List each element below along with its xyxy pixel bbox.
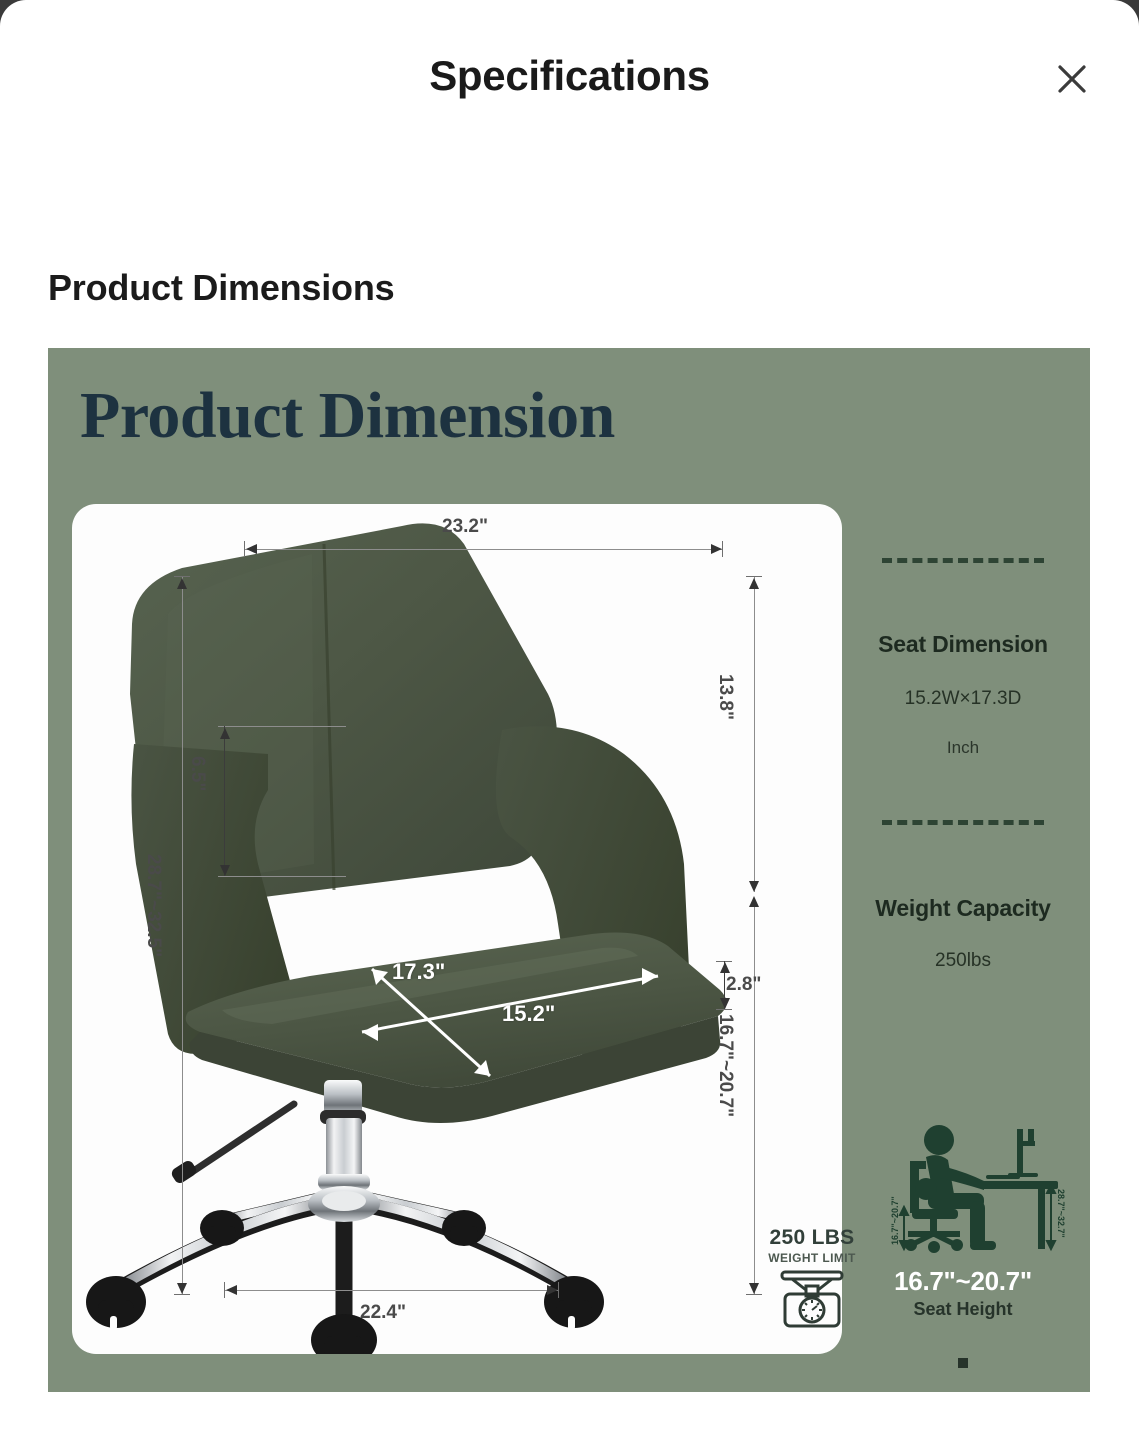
arrow-left-icon bbox=[226, 1285, 237, 1295]
arrow-right-icon bbox=[547, 1285, 558, 1295]
section-heading: Product Dimensions bbox=[48, 267, 394, 309]
dimension-label-top-width: 23.2" bbox=[442, 516, 488, 538]
dashed-divider-top bbox=[882, 558, 1044, 563]
seat-height-vertical-label-left: 16.7"~20.7" bbox=[890, 1196, 900, 1245]
dimension-tick bbox=[746, 576, 762, 577]
arrow-up-icon bbox=[749, 578, 759, 589]
dashed-divider-middle bbox=[882, 820, 1044, 825]
dimension-diagram-card: 23.2" 28.7"~32.5" 6.5" 13 bbox=[72, 504, 842, 1354]
modal-header: Specifications bbox=[0, 0, 1139, 155]
dimension-tick bbox=[224, 1282, 225, 1298]
seat-height-value: 16.7"~20.7" bbox=[860, 1266, 1066, 1297]
arrow-right-icon bbox=[711, 544, 722, 554]
seat-dimension-unit: Inch bbox=[860, 738, 1066, 758]
dimension-label-seat-thickness: 2.8" bbox=[726, 974, 761, 996]
dimension-tick bbox=[558, 1282, 559, 1298]
dimension-label-overall-height: 28.7"~32.5" bbox=[142, 854, 164, 957]
dimension-line-base-width bbox=[224, 1290, 558, 1291]
arrow-down-icon bbox=[220, 865, 230, 876]
weight-limit-caption: WEIGHT LIMIT bbox=[753, 1251, 871, 1265]
dimension-tick bbox=[244, 541, 245, 557]
dimension-label-armrest-height: 6.5" bbox=[186, 756, 208, 791]
dimension-tick bbox=[174, 576, 190, 577]
page-title: Specifications bbox=[0, 52, 1139, 100]
close-button[interactable] bbox=[1043, 50, 1101, 108]
dimension-tick bbox=[174, 1294, 190, 1295]
decorative-square bbox=[958, 1358, 968, 1368]
dimension-line-backrest-height bbox=[754, 576, 755, 892]
dimension-tick bbox=[722, 541, 723, 557]
specifications-modal: Specifications Product Dimensions Produc… bbox=[0, 0, 1139, 1440]
seat-height-caption: Seat Height bbox=[860, 1299, 1066, 1320]
arrow-up-icon bbox=[720, 962, 730, 973]
infographic-spec-sidebar: Seat Dimension 15.2W×17.3D Inch Weight C… bbox=[860, 558, 1066, 972]
seat-height-block: 16.7"~20.7" 28.7"~32.7" 16.7"~20.7" Seat… bbox=[860, 1123, 1066, 1368]
dimension-label-base-width: 22.4" bbox=[360, 1302, 406, 1324]
dimension-label-seat-width: 15.2" bbox=[502, 1001, 555, 1027]
arrow-up-icon bbox=[220, 728, 230, 739]
office-chair-illustration bbox=[72, 504, 842, 1354]
weight-capacity-title: Weight Capacity bbox=[860, 895, 1066, 922]
weight-limit-badge: 250 LBS WEIGHT LIMIT bbox=[753, 1226, 871, 1335]
dimension-leader-line bbox=[218, 726, 346, 727]
dimension-tick bbox=[716, 1009, 732, 1010]
arrow-up-icon bbox=[177, 578, 187, 589]
dimension-label-seat-height: 16.7"~20.7" bbox=[714, 1014, 736, 1117]
arrow-down-icon bbox=[720, 998, 730, 1009]
dimension-label-seat-depth: 17.3" bbox=[392, 959, 445, 985]
person-at-desk-icon: 16.7"~20.7" 28.7"~32.7" bbox=[860, 1123, 1066, 1255]
dimension-leader-line bbox=[218, 876, 346, 877]
close-icon bbox=[1054, 61, 1090, 97]
dimension-line-overall-height bbox=[182, 576, 183, 1294]
weight-capacity-value: 250lbs bbox=[860, 950, 1066, 972]
arrow-down-icon bbox=[177, 1283, 187, 1294]
seat-dimension-title: Seat Dimension bbox=[860, 631, 1066, 658]
dimension-line-armrest-height bbox=[224, 726, 225, 876]
product-dimension-infographic: Product Dimension bbox=[48, 348, 1090, 1392]
seat-dimension-value: 15.2W×17.3D bbox=[860, 688, 1066, 710]
weight-limit-value: 250 LBS bbox=[753, 1226, 871, 1250]
arrow-left-icon bbox=[246, 544, 257, 554]
arrow-up-icon bbox=[749, 896, 759, 907]
arrow-down-icon bbox=[749, 881, 759, 892]
dimension-line-top-width bbox=[244, 549, 722, 550]
dimension-label-backrest-height: 13.8" bbox=[714, 674, 736, 720]
infographic-title: Product Dimension bbox=[80, 378, 615, 454]
kitchen-scale-icon bbox=[753, 1268, 871, 1335]
seat-height-vertical-label-right: 28.7"~32.7" bbox=[1056, 1189, 1066, 1238]
